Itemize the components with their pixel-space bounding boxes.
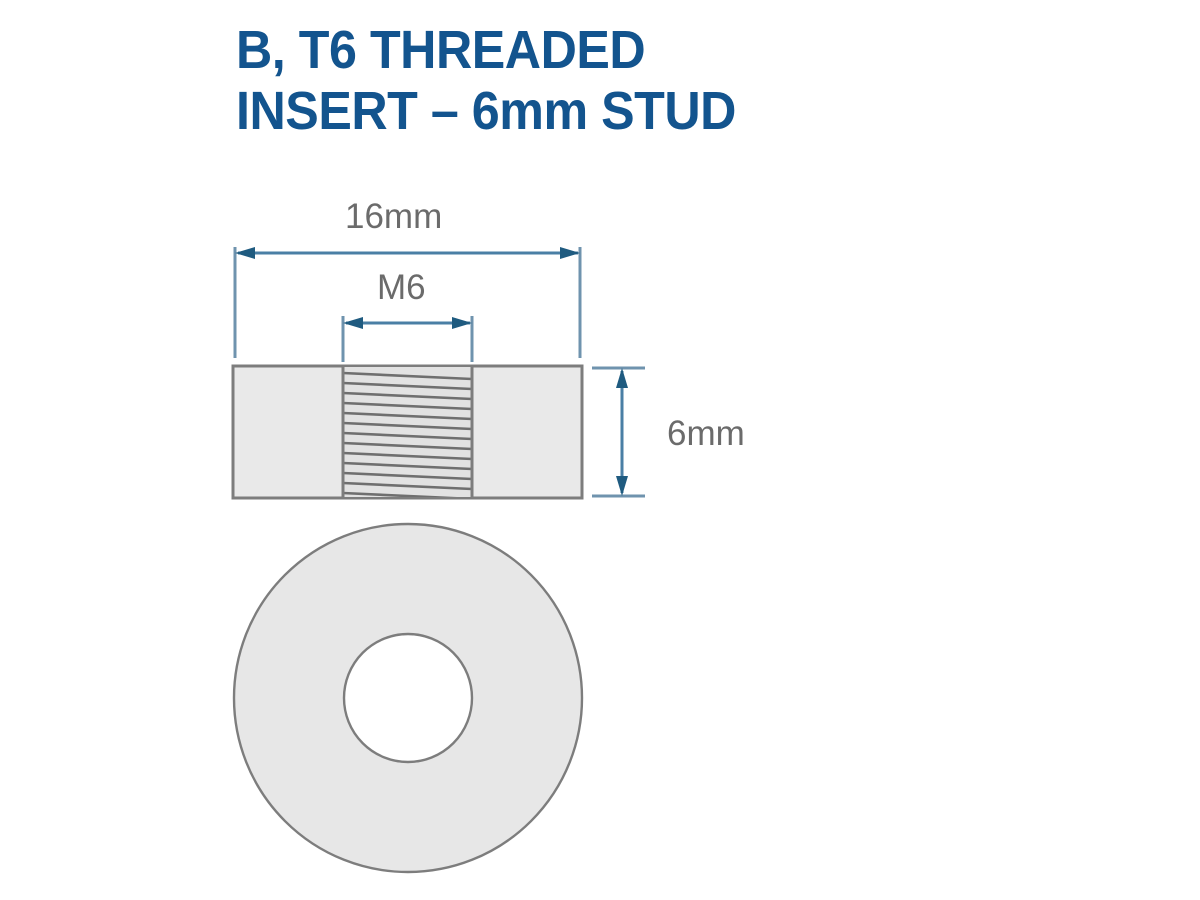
dimension-label-overall-width: 16mm <box>345 197 442 237</box>
dimension-label-thread: M6 <box>377 268 426 308</box>
dimension-thread-width <box>343 316 472 362</box>
side-section-view <box>233 366 582 499</box>
dimension-label-height: 6mm <box>667 414 745 454</box>
dimension-height <box>592 368 645 496</box>
threaded-insert-technical-drawing: 16mm M6 6mm <box>0 0 1200 900</box>
plan-view-bore-circle <box>344 634 472 762</box>
plan-view-washer <box>234 524 582 872</box>
page-canvas: B, T6 THREADED INSERT – 6mm STUD <box>0 0 1200 900</box>
